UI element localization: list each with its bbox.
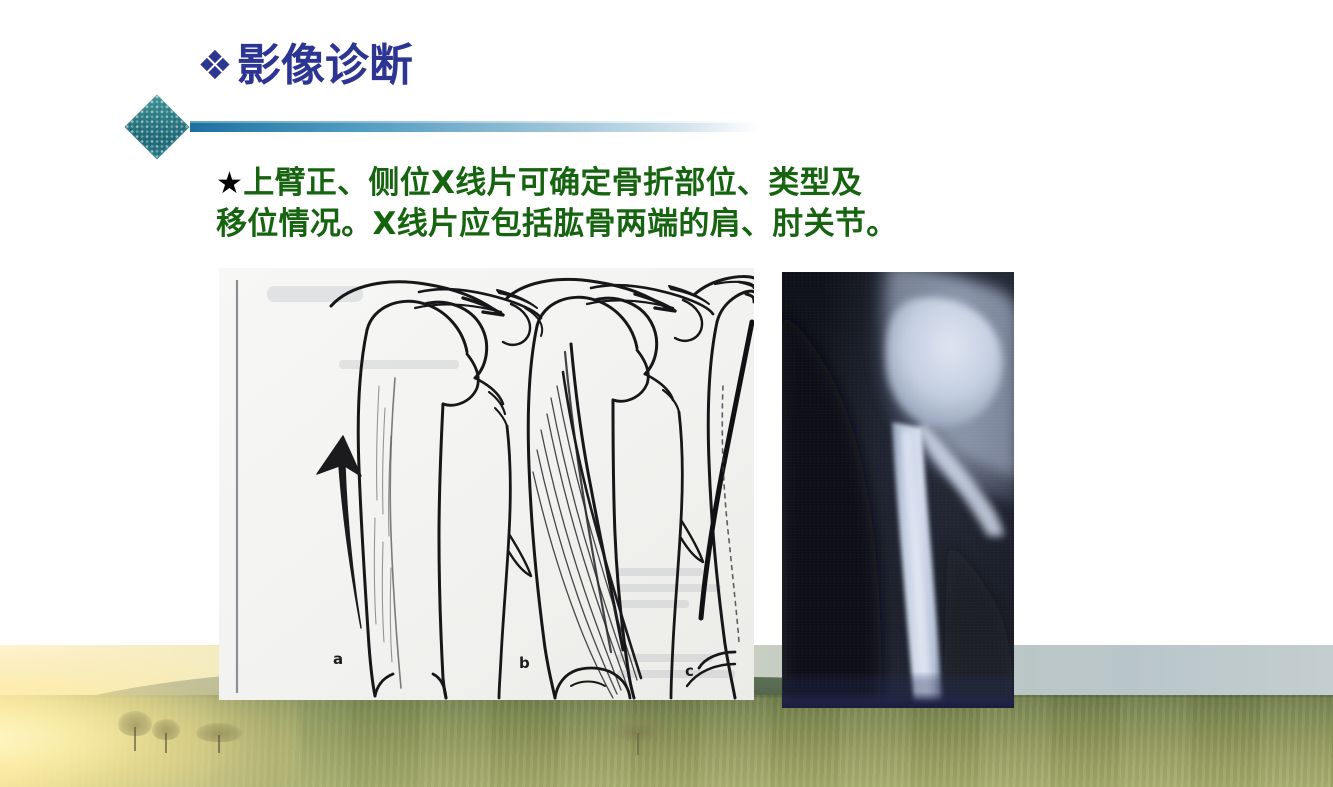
humerus-fracture-line-drawing: a b c a b c <box>219 268 754 700</box>
body-paragraph: ★上臂正、侧位X线片可确定骨折部位、类型及 移位情况。X线片应包括肱骨两端的肩、… <box>216 163 1096 245</box>
landscape-tree <box>612 719 664 755</box>
body-line-2-latin: X <box>373 206 397 242</box>
body-line-2-part-2: 线片应包括肱骨两端的肩、肘关节。 <box>397 206 898 242</box>
landscape-tree <box>196 723 242 753</box>
body-line-1-latin: X <box>431 165 455 201</box>
xray-film-grain <box>782 272 1014 708</box>
panel-label-b: b <box>519 654 530 672</box>
line-drawing-svg: a b c <box>219 268 754 700</box>
divider-bar <box>190 123 759 132</box>
page-title: 影像诊断 <box>237 44 413 88</box>
slide-title: ❖ 影像诊断 <box>197 44 413 88</box>
body-line-2: 移位情况。X线片应包括肱骨两端的肩、肘关节。 <box>216 204 1096 245</box>
body-line-1-part-1: 上臂正、侧位 <box>243 165 431 201</box>
xray-bottom-band <box>782 692 1014 708</box>
panel-label-c: c <box>685 662 694 680</box>
star-bullet-icon: ★ <box>216 166 243 201</box>
slide-canvas: ❖ 影像诊断 ★上臂正、侧位X线片可确定骨折部位、类型及 移位情况。X线片应包括… <box>0 0 1333 787</box>
landscape-tree <box>118 711 152 751</box>
landscape-tree <box>152 719 180 753</box>
title-divider <box>134 104 759 158</box>
body-line-1-part-2: 线片可确定骨折部位、类型及 <box>455 165 862 201</box>
body-line-2-part-1: 移位情况。 <box>216 206 373 242</box>
textured-diamond-ornament-icon <box>124 94 189 159</box>
humerus-shoulder-xray <box>782 272 1014 708</box>
panel-label-a: a <box>333 650 343 668</box>
body-line-1: ★上臂正、侧位X线片可确定骨折部位、类型及 <box>216 163 1096 204</box>
diamond-cluster-bullet-icon: ❖ <box>197 46 233 86</box>
